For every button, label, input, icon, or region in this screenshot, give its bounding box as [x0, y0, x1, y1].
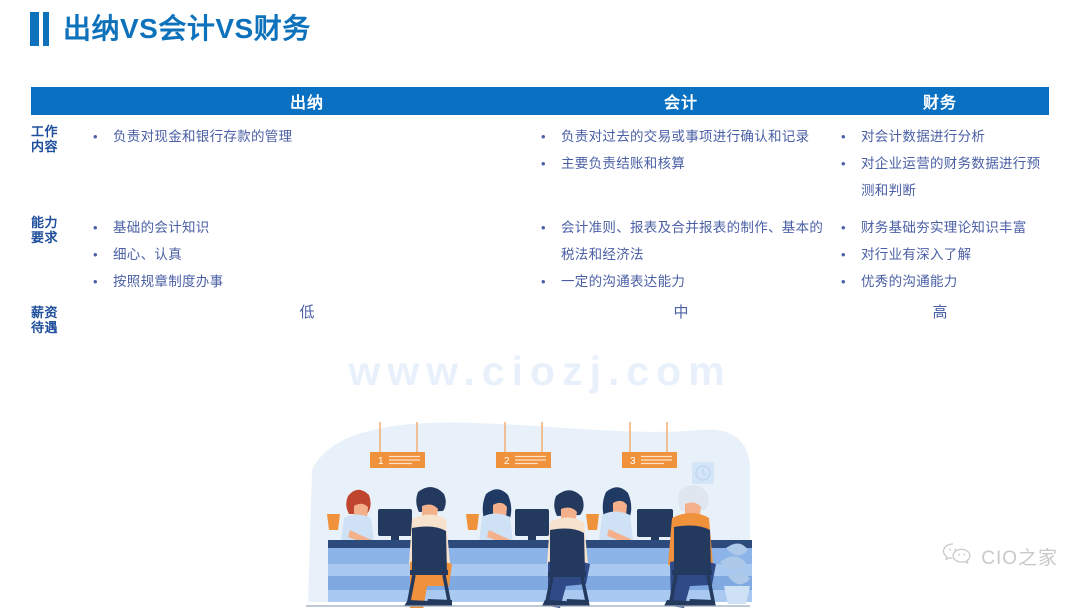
- svg-text:3: 3: [630, 456, 636, 467]
- list-item: 主要负责结账和核算: [531, 150, 831, 177]
- list-item: 基础的会计知识: [83, 214, 531, 241]
- svg-text:1: 1: [378, 456, 384, 467]
- list-item: 优秀的沟通能力: [831, 268, 1049, 295]
- table-header-accountant: 会计: [531, 89, 831, 113]
- title-accent-bars-icon: [30, 12, 49, 46]
- cell-finance-job-content: 对会计数据进行分析 对企业运营的财务数据进行预测和判断: [831, 121, 1049, 204]
- watermark-text: www.ciozj.com: [0, 348, 1080, 395]
- list-item: 按照规章制度办事: [83, 268, 531, 295]
- list-item: 一定的沟通表达能力: [531, 268, 831, 295]
- brand-logo: CIO之家: [942, 542, 1058, 571]
- cell-cashier-skills: 基础的会计知识 细心、认真 按照规章制度办事: [83, 212, 531, 295]
- list-item: 财务基础夯实理论知识丰富: [831, 214, 1049, 241]
- cell-finance-skills: 财务基础夯实理论知识丰富 对行业有深入了解 优秀的沟通能力: [831, 212, 1049, 295]
- slide-canvas: 出纳VS会计VS财务 出纳 会计 财务 工作 内容 负责对现金和银行存款的管理 …: [0, 0, 1080, 608]
- bank-counter-illustration: 1 2 3: [300, 410, 752, 608]
- list-item: 对行业有深入了解: [831, 241, 1049, 268]
- table-row: 薪资 待遇 低 中 高: [31, 302, 1049, 335]
- list-item: 对企业运营的财务数据进行预测和判断: [831, 150, 1049, 204]
- page-title: 出纳VS会计VS财务: [30, 8, 311, 50]
- cell-cashier-job-content: 负责对现金和银行存款的管理: [83, 121, 531, 150]
- table-header-finance: 财务: [831, 89, 1049, 113]
- list-item: 会计准则、报表及合并报表的制作、基本的税法和经济法: [531, 214, 831, 268]
- salary-value-cashier: 低: [83, 302, 531, 335]
- brand-name: CIO之家: [981, 543, 1058, 570]
- row-label-skill-requirement: 能力 要求: [31, 212, 83, 245]
- cell-accountant-skills: 会计准则、报表及合并报表的制作、基本的税法和经济法 一定的沟通表达能力: [531, 212, 831, 295]
- row-label-salary: 薪资 待遇: [31, 302, 83, 335]
- salary-value-accountant: 中: [531, 302, 831, 335]
- table-header-cashier: 出纳: [83, 89, 531, 113]
- list-item: 负责对现金和银行存款的管理: [83, 123, 531, 150]
- table-row: 工作 内容 负责对现金和银行存款的管理 负责对过去的交易或事项进行确认和记录 主…: [31, 121, 1049, 204]
- wechat-icon: [942, 542, 972, 571]
- cell-accountant-job-content: 负责对过去的交易或事项进行确认和记录 主要负责结账和核算: [531, 121, 831, 177]
- list-item: 对会计数据进行分析: [831, 123, 1049, 150]
- table-row: 能力 要求 基础的会计知识 细心、认真 按照规章制度办事 会计准则、报表及合并报…: [31, 212, 1049, 295]
- page-title-text: 出纳VS会计VS财务: [63, 12, 311, 46]
- table-header-row: 出纳 会计 财务: [31, 87, 1049, 115]
- svg-text:2: 2: [504, 456, 510, 467]
- list-item: 负责对过去的交易或事项进行确认和记录: [531, 123, 831, 150]
- row-label-job-content: 工作 内容: [31, 121, 83, 154]
- list-item: 细心、认真: [83, 241, 531, 268]
- salary-value-finance: 高: [831, 302, 1049, 335]
- comparison-table: 出纳 会计 财务 工作 内容 负责对现金和银行存款的管理 负责对过去的交易或事项…: [31, 87, 1049, 335]
